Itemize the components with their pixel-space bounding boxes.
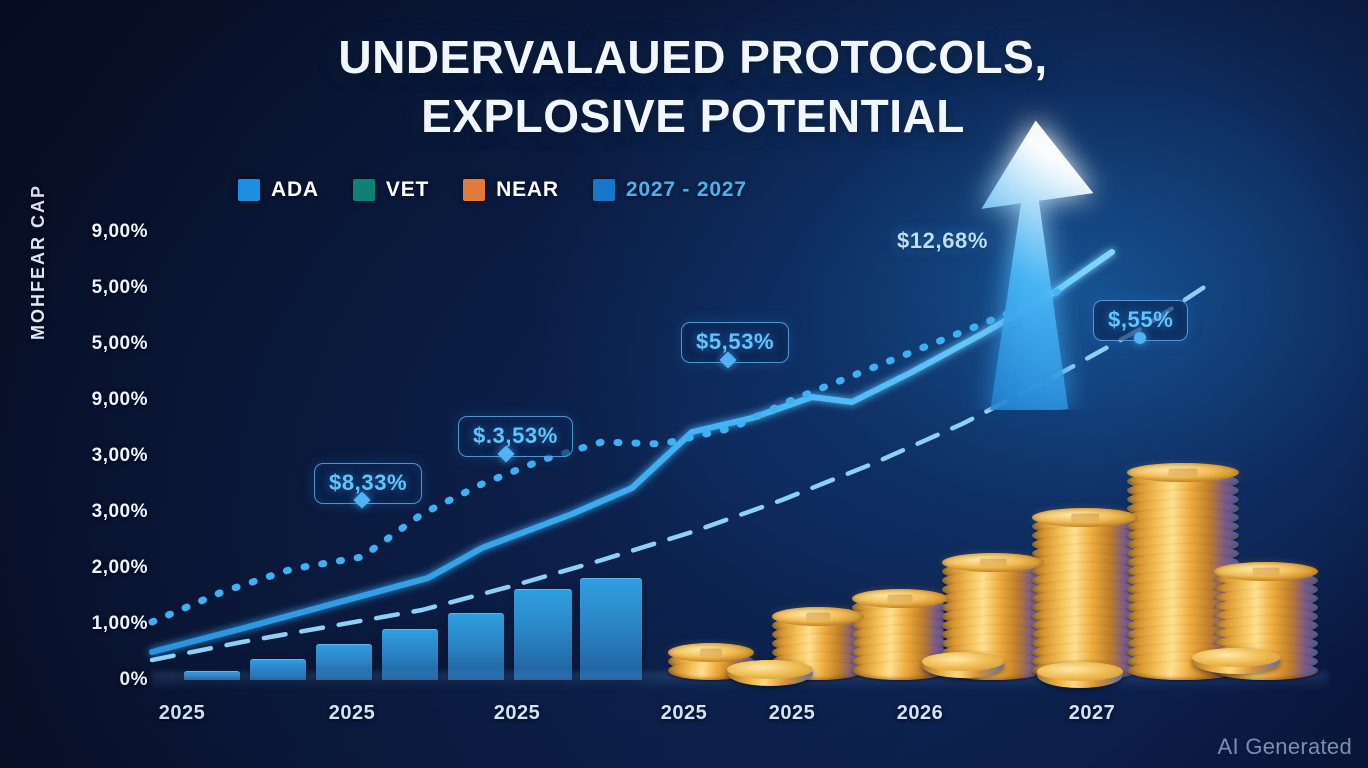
y-axis-tick-1: 5,00% [92, 277, 148, 299]
x-axis-tick-4: 2025 [769, 702, 816, 725]
loose-coin-1 [922, 652, 1004, 678]
coin-top-face [772, 607, 864, 626]
y-axis-tick-8: 0% [120, 669, 148, 691]
annotation-4: $12,68% [883, 222, 1002, 261]
legend-label-vet: VET [386, 178, 429, 202]
coin-top-face [942, 553, 1044, 572]
x-axis-tick-2: 2025 [494, 702, 541, 725]
legend-label-ada: ADA [271, 178, 319, 202]
coin-top-face [1032, 508, 1138, 527]
x-axis-ticks: 2025202520252025202520262027 [152, 702, 1258, 732]
loose-coin-0 [727, 660, 813, 686]
legend-item-near[interactable]: NEAR [463, 178, 559, 202]
annotation-3: $5,53% [681, 322, 789, 363]
y-axis-ticks: 9,00%5,00%5,00%9,00%3,00%3,00%2,00%1,00%… [60, 232, 148, 680]
coin-top-face [852, 589, 948, 608]
y-axis-title: MOHFEAR CAP [28, 140, 49, 340]
annotation-5-pin [1134, 332, 1146, 344]
y-axis-tick-2: 5,00% [92, 333, 148, 355]
y-axis-tick-4: 3,00% [92, 445, 148, 467]
chart-canvas: UNDERVALAUED PROTOCOLS, EXPLOSIVE POTENT… [0, 0, 1368, 768]
coin-top-face [668, 643, 754, 662]
y-axis-tick-0: 9,00% [92, 221, 148, 243]
loose-coin-3 [1192, 648, 1280, 674]
legend-swatch-range [593, 179, 615, 201]
coin-stack-4 [1032, 508, 1138, 680]
loose-coin-2 [1037, 662, 1123, 688]
legend-swatch-vet [353, 179, 375, 201]
y-axis-tick-5: 3,00% [92, 501, 148, 523]
legend-item-vet[interactable]: VET [353, 178, 429, 202]
legend-label-near: NEAR [496, 178, 559, 202]
chart-legend: ADA VET NEAR 2027 - 2027 [238, 178, 747, 202]
x-axis-tick-3: 2025 [661, 702, 708, 725]
legend-swatch-near [463, 179, 485, 201]
x-axis-tick-0: 2025 [159, 702, 206, 725]
legend-item-ada[interactable]: ADA [238, 178, 319, 202]
y-axis-tick-3: 9,00% [92, 389, 148, 411]
x-axis-tick-5: 2026 [897, 702, 944, 725]
coin-top-face [1214, 562, 1318, 581]
line-dotted [152, 292, 1057, 622]
coin-top-face [1127, 463, 1239, 482]
legend-swatch-ada [238, 179, 260, 201]
legend-label-range: 2027 - 2027 [626, 178, 747, 202]
x-axis-tick-1: 2025 [329, 702, 376, 725]
y-axis-tick-6: 2,00% [92, 557, 148, 579]
title-line-1: UNDERVALAUED PROTOCOLS, [18, 28, 1368, 87]
watermark-label: AI Generated [1218, 734, 1352, 760]
y-axis-tick-7: 1,00% [92, 613, 148, 635]
annotation-2: $.3,53% [458, 416, 573, 457]
legend-item-range[interactable]: 2027 - 2027 [593, 178, 747, 202]
x-axis-tick-6: 2027 [1069, 702, 1116, 725]
